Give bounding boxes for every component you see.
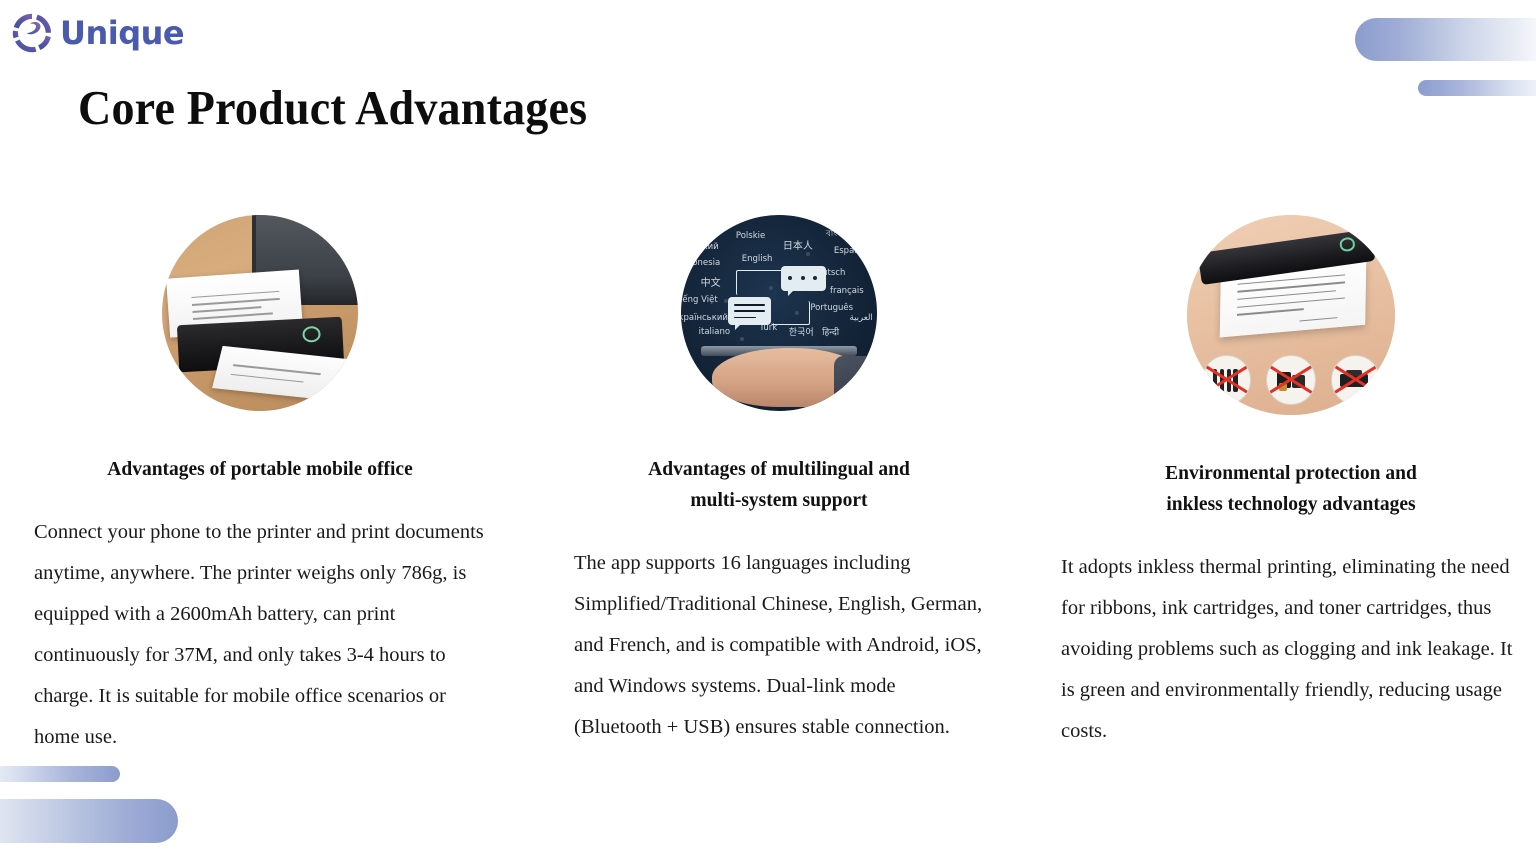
advantage-image-1	[162, 215, 358, 411]
top-right-thin-bar	[1418, 80, 1536, 96]
advantage-body-1: Connect your phone to the printer and pr…	[34, 512, 486, 758]
advantage-card-3: Environmental protection and inkless tec…	[1024, 215, 1536, 758]
no-toner-cartridge-badge	[1331, 355, 1381, 405]
page-title: Core Product Advantages	[78, 79, 587, 136]
circular-swoosh-logo-icon	[10, 11, 54, 55]
no-ribbon-badge	[1202, 355, 1252, 405]
advantage-heading-3-line2: inkless technology advantages	[1166, 494, 1415, 515]
advantage-heading-3: Environmental protection and inkless tec…	[1165, 459, 1417, 521]
advantage-heading-3-line1: Environmental protection and	[1165, 463, 1417, 484]
advantage-heading-2: Advantages of multilingual and multi-sys…	[648, 455, 910, 517]
bottom-left-thick-bar	[0, 799, 178, 843]
advantage-card-2: Русский Polskie বাংলা 日本人 Español Indone…	[512, 215, 1024, 758]
advantage-card-1: Advantages of portable mobile office Con…	[0, 215, 512, 758]
top-right-thick-bar	[1355, 18, 1536, 61]
slide-canvas: Unique Core Product Advantages	[0, 0, 1536, 864]
advantage-image-2: Русский Polskie বাংলা 日本人 Español Indone…	[681, 215, 877, 411]
advantage-body-2: The app supports 16 languages including …	[574, 543, 984, 748]
bottom-left-thin-bar	[0, 766, 120, 782]
advantage-columns: Advantages of portable mobile office Con…	[0, 215, 1536, 758]
advantage-image-3	[1187, 215, 1395, 415]
brand-lockup: Unique	[10, 11, 184, 55]
advantage-heading-1: Advantages of portable mobile office	[107, 455, 412, 486]
advantage-body-3: It adopts inkless thermal printing, elim…	[1061, 547, 1521, 752]
advantage-heading-2-line1: Advantages of multilingual and	[648, 459, 910, 480]
brand-name: Unique	[60, 17, 184, 49]
advantage-heading-2-line2: multi-system support	[690, 490, 867, 511]
no-ink-cartridge-badge	[1266, 355, 1316, 405]
